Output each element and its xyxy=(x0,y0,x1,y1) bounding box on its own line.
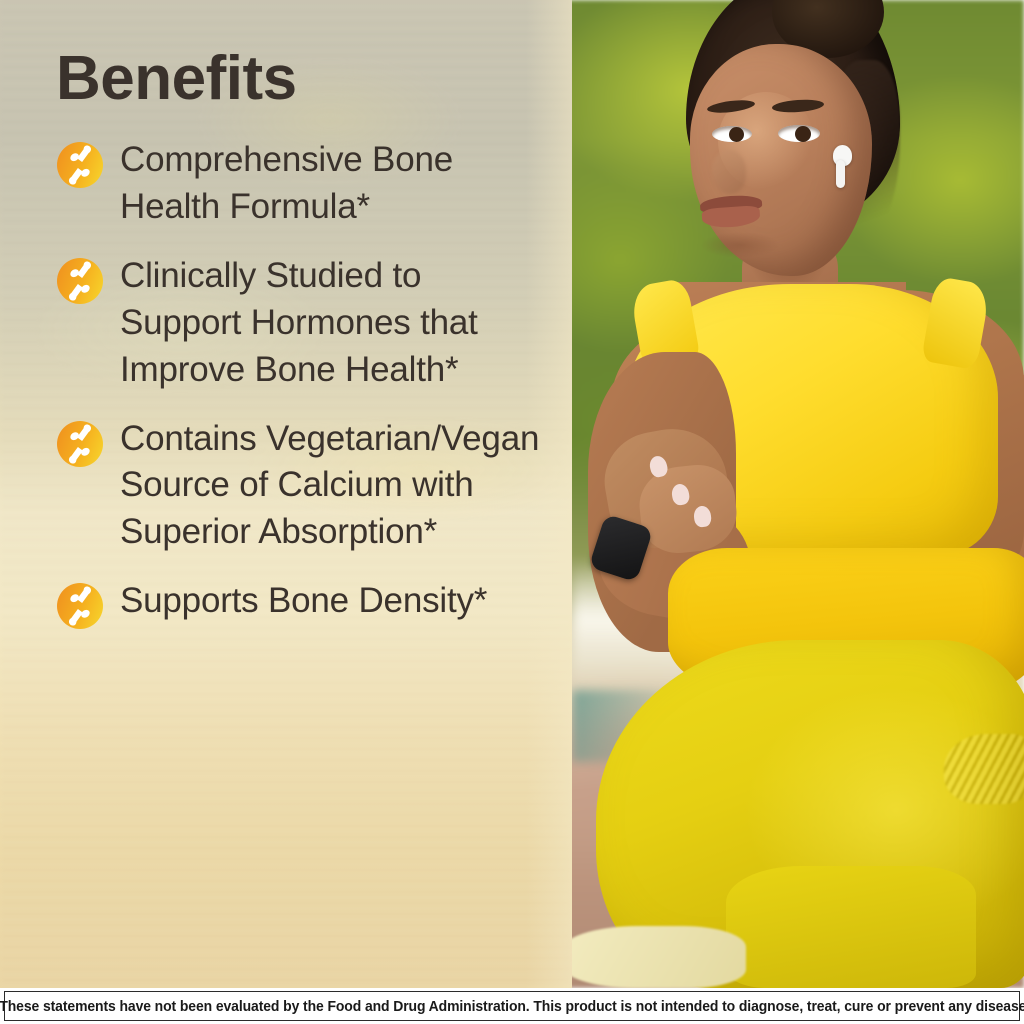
figure-leggings-crease xyxy=(944,734,1024,804)
bone-joint-icon xyxy=(56,582,104,630)
benefit-text: Supports Bone Density* xyxy=(120,578,487,625)
figure-sock xyxy=(560,926,746,988)
wireless-earbud-stem xyxy=(836,160,845,188)
figure-left-iris xyxy=(729,127,744,142)
bone-joint-icon xyxy=(56,141,104,189)
disclaimer-box: *These statements have not been evaluate… xyxy=(4,991,1020,1021)
benefits-list: Comprehensive Bone Health Formula* xyxy=(56,137,552,630)
benefit-item: Supports Bone Density* xyxy=(56,578,552,630)
disclaimer-footer: *These statements have not been evaluate… xyxy=(0,988,1024,1024)
bone-joint-icon xyxy=(56,420,104,468)
figure-chin-shadow xyxy=(700,232,780,258)
bone-joint-icon xyxy=(56,257,104,305)
benefit-text: Contains Vegetarian/Vegan Source of Calc… xyxy=(120,416,550,557)
figure-right-iris xyxy=(795,126,811,142)
benefits-panel: Benefits xyxy=(0,0,572,988)
disclaimer-text: *These statements have not been evaluate… xyxy=(0,998,1024,1015)
benefit-item: Clinically Studied to Support Hormones t… xyxy=(56,253,552,394)
benefit-text: Clinically Studied to Support Hormones t… xyxy=(120,253,550,394)
benefit-text: Comprehensive Bone Health Formula* xyxy=(120,137,550,231)
page-title: Benefits xyxy=(56,46,552,111)
benefit-item: Comprehensive Bone Health Formula* xyxy=(56,137,552,231)
figure-nose xyxy=(712,150,746,194)
benefits-infographic: Benefits xyxy=(0,0,1024,1024)
benefit-item: Contains Vegetarian/Vegan Source of Calc… xyxy=(56,416,552,557)
figure-lower-leg xyxy=(726,866,976,988)
